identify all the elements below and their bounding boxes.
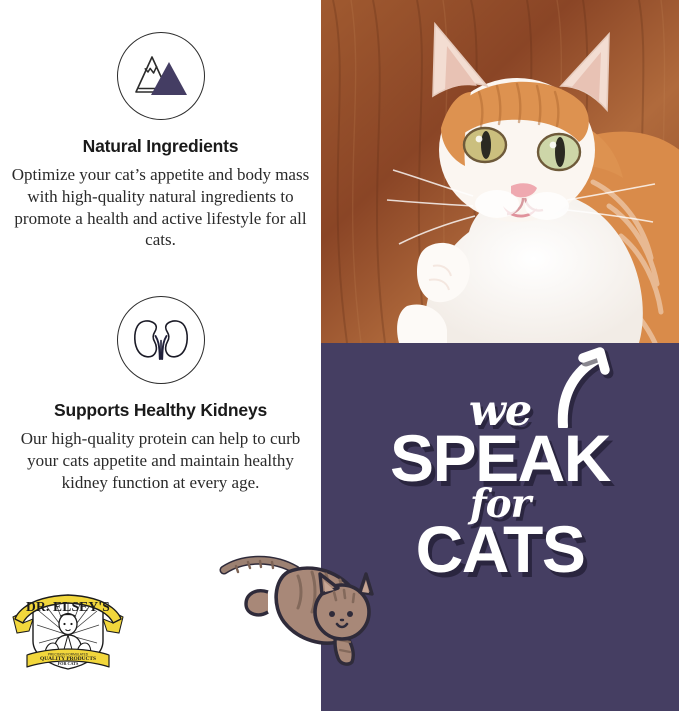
leaping-tabby-cat-illustration	[216, 548, 391, 666]
promo-infographic: Natural Ingredients Optimize your cat’s …	[0, 0, 679, 711]
feature-title: Supports Healthy Kidneys	[0, 400, 321, 421]
feature-body: Our high-quality protein can help to cur…	[0, 428, 321, 493]
feature-body: Optimize your cat’s appetite and body ma…	[0, 164, 321, 251]
cat-photo	[321, 0, 679, 343]
logo-wordmark: DR. ELSEY'S	[26, 599, 110, 614]
dr-elseys-logo: DR. ELSEY'S PRECISION FORMULATED QUALITY…	[9, 583, 127, 675]
feature-natural-ingredients: Natural Ingredients Optimize your cat’s …	[0, 32, 321, 251]
mountains-icon	[117, 32, 205, 120]
kidneys-icon	[117, 296, 205, 384]
headline-line-speak: SPEAK	[321, 427, 679, 489]
logo-tagline-bottom: FOR CATS	[58, 661, 79, 666]
feature-title: Natural Ingredients	[0, 136, 321, 157]
feature-supports-healthy-kidneys: Supports Healthy Kidneys Our high-qualit…	[0, 296, 321, 493]
